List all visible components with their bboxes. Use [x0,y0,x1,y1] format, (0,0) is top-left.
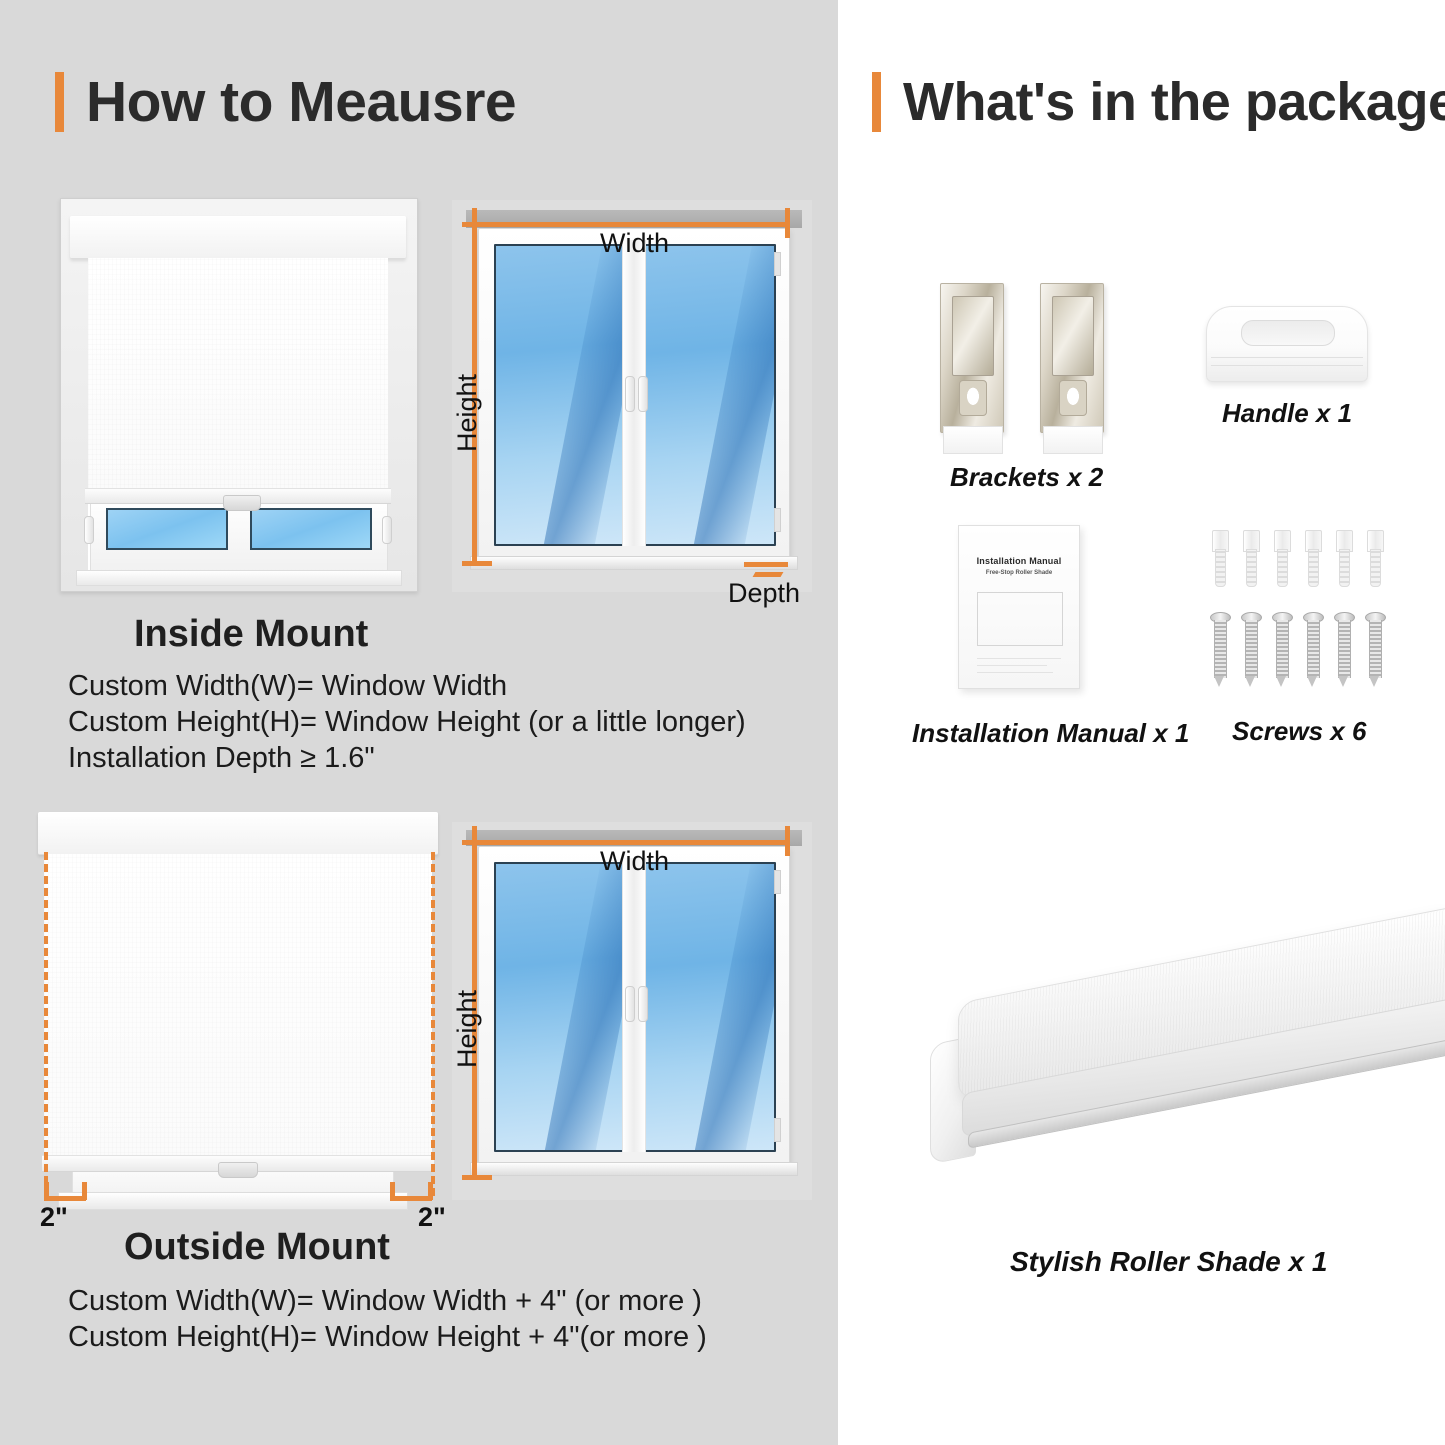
roller-shade-label: Stylish Roller Shade x 1 [1010,1246,1327,1278]
manual-cover-title: Installation Manual [959,556,1079,566]
overhang-right-label: 2" [418,1202,446,1233]
inside-spec-1: Custom Width(W)= Window Width [68,670,507,703]
label-depth-inside: Depth [728,578,800,609]
infographic-page: How to Meausre [0,0,1445,1445]
label-height-outside: Height [452,990,483,1068]
overhang-guide-left [44,852,48,1196]
panel-divider [838,0,843,1445]
manual-cover-subtitle: Free-Stop Roller Shade [959,570,1079,576]
label-width-inside: Width [600,228,669,259]
manual-icon: Installation Manual Free-Stop Roller Sha… [958,525,1080,689]
label-width-outside: Width [600,846,669,877]
outside-spec-1: Custom Width(W)= Window Width + 4" (or m… [68,1285,702,1318]
outside-mount-title: Outside Mount [124,1226,390,1269]
inside-spec-3: Installation Depth ≥ 1.6" [68,742,375,775]
brackets-label: Brackets x 2 [950,462,1103,493]
right-panel-heading: What's in the package [872,72,1445,132]
screws-label: Screws x 6 [1232,716,1366,747]
accent-bar-icon-right [872,72,881,132]
inside-spec-2: Custom Height(H)= Window Height (or a li… [68,706,746,739]
manual-label: Installation Manual x 1 [912,718,1189,749]
overhang-guide-right [431,852,435,1196]
label-height-inside: Height [452,374,483,452]
right-heading-text: What's in the package [903,75,1445,129]
width-dimension-line [472,222,790,227]
inside-mount-title: Inside Mount [134,613,368,656]
overhang-left-label: 2" [40,1202,68,1233]
left-panel-heading: How to Meausre [55,72,516,132]
left-heading-text: How to Meausre [86,74,516,131]
handle-label: Handle x 1 [1222,398,1352,429]
accent-bar-icon [55,72,64,132]
outside-spec-2: Custom Height(H)= Window Height + 4"(or … [68,1321,707,1354]
